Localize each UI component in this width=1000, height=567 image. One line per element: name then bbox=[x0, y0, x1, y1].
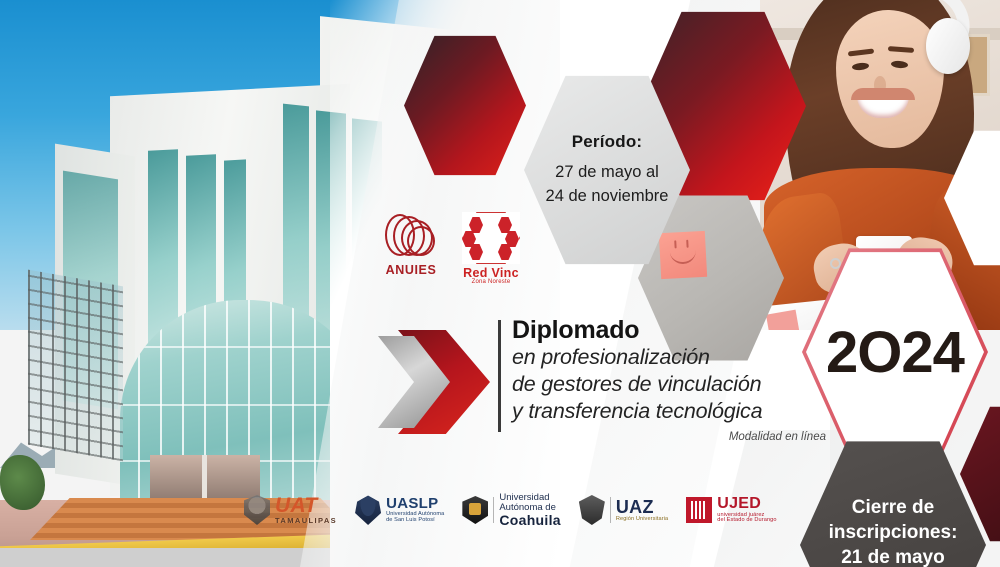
redvinc-logo: Red Vinc Zona Noreste bbox=[456, 212, 526, 285]
university-logo-bar: UAT TAMAULIPAS UASLP Universidad Autónom… bbox=[244, 486, 814, 534]
logo-divider bbox=[610, 497, 611, 523]
promotional-banner: ^_^ Período: 27 de mayo al 24 de noviemb… bbox=[0, 0, 1000, 567]
logo-coahuila: Universidad Autónoma de Coahuila bbox=[462, 493, 561, 528]
uat-crest-icon bbox=[244, 495, 270, 525]
uat-subtitle: TAMAULIPAS bbox=[275, 517, 337, 525]
smiley-sticky-note-icon bbox=[659, 231, 707, 279]
deadline-text: Cierre de inscripciones: 21 de mayo de 2… bbox=[829, 495, 958, 567]
period-start-line: 27 de mayo al bbox=[555, 161, 659, 185]
page-title: Diplomado bbox=[512, 316, 832, 344]
uaslp-title: UASLP bbox=[386, 496, 444, 512]
anuies-logo: ANUIES bbox=[382, 212, 440, 277]
period-label: Período: bbox=[572, 132, 643, 152]
uaz-title: UAZ bbox=[616, 498, 668, 517]
metal-lattice-screen bbox=[28, 270, 123, 462]
anuies-rings-icon bbox=[385, 212, 437, 260]
coahuila-crest-icon bbox=[462, 496, 488, 524]
uaz-subtitle: Región Universitaria bbox=[616, 517, 668, 523]
uat-title: UAT bbox=[275, 495, 337, 517]
title-line-2: de gestores de vinculación bbox=[512, 371, 832, 398]
year-text: 2O24 bbox=[826, 319, 964, 386]
deadline-line-3: 21 de mayo bbox=[829, 545, 958, 567]
redvinc-hexagon-icon bbox=[462, 212, 520, 264]
deadline-line-2: inscripciones: bbox=[829, 520, 958, 545]
logo-ujed: UJED universidad juárez del Estado de Du… bbox=[686, 496, 776, 525]
uaslp-eagle-icon bbox=[355, 495, 381, 525]
ujed-subtitle-2: del Estado de Durango bbox=[717, 518, 776, 524]
ujed-title: UJED bbox=[717, 496, 776, 513]
redvinc-label: Red Vinc bbox=[456, 266, 526, 280]
period-end-line: 24 de noviembre bbox=[546, 185, 669, 209]
finger-ring bbox=[830, 258, 841, 269]
course-title-block: Diplomado en profesionalización de gesto… bbox=[512, 316, 832, 443]
uaslp-subtitle-2: de San Luis Potosí bbox=[386, 518, 444, 524]
logo-uat: UAT TAMAULIPAS bbox=[244, 495, 337, 525]
title-line-3: y transferencia tecnológica bbox=[512, 398, 832, 425]
logo-divider bbox=[493, 497, 494, 523]
logo-uaslp: UASLP Universidad Autónoma de San Luis P… bbox=[355, 495, 444, 525]
modality-label: Modalidad en línea bbox=[512, 431, 832, 443]
ujed-crest-icon bbox=[686, 497, 712, 523]
coahuila-title: Coahuila bbox=[499, 513, 561, 528]
deadline-line-1: Cierre de bbox=[829, 495, 958, 520]
uaz-crest-icon bbox=[579, 495, 605, 525]
anuies-label: ANUIES bbox=[382, 263, 440, 277]
title-divider-rule bbox=[498, 320, 501, 432]
diplomado-arrow-logo bbox=[378, 330, 490, 434]
organizer-logos: ANUIES Red Vinc Zona Noreste bbox=[382, 212, 530, 296]
logo-uaz: UAZ Región Universitaria bbox=[579, 495, 668, 525]
title-line-1: en profesionalización bbox=[512, 344, 832, 371]
